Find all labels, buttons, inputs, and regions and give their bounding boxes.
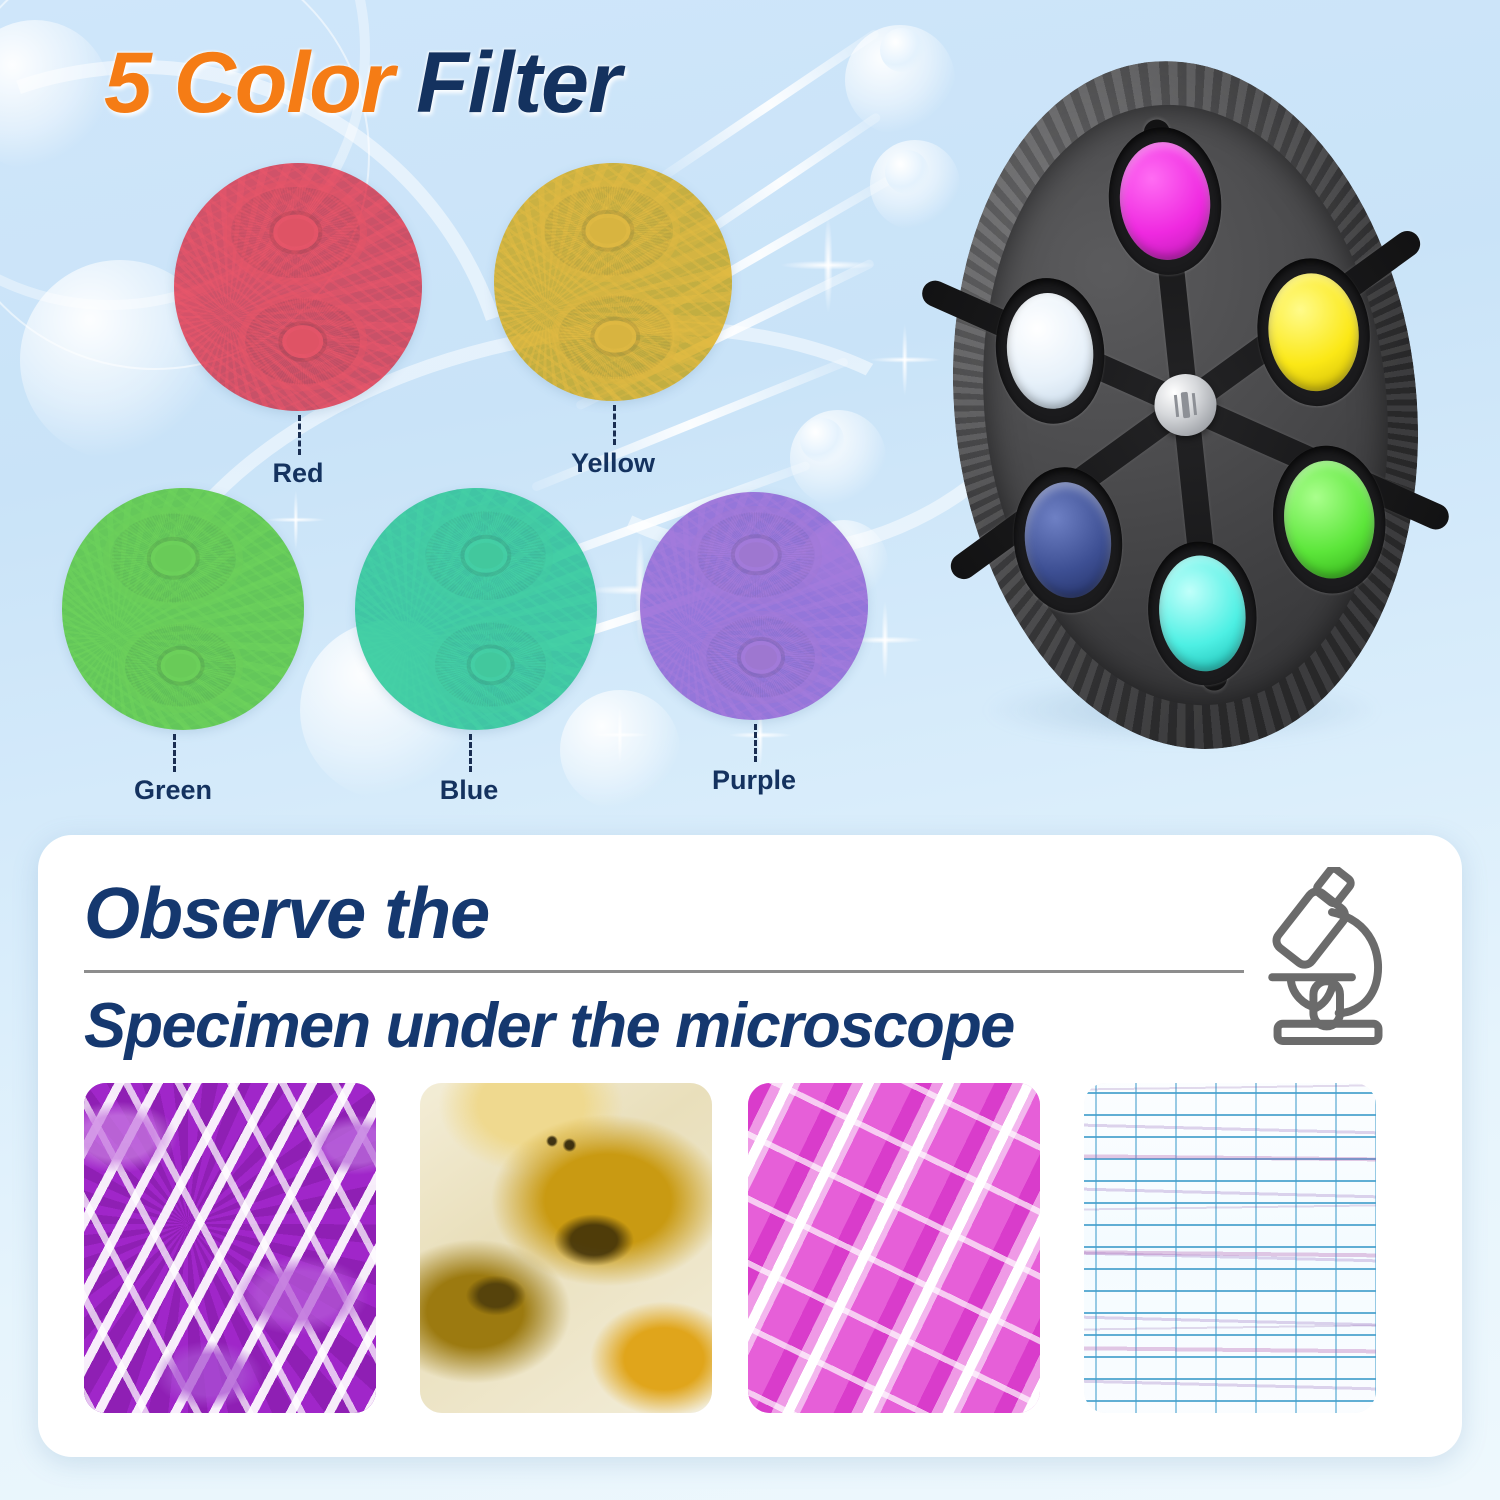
- swatch-yellow: Yellow: [494, 163, 732, 401]
- swatch-disc: [640, 492, 868, 720]
- aperture-cyan[interactable]: [1141, 536, 1263, 691]
- swatch-label: Green: [134, 775, 212, 806]
- page-title: 5 Color Filter: [104, 34, 620, 133]
- swatch-green: Green: [62, 488, 304, 730]
- title-part-filter: Filter: [416, 35, 620, 131]
- swatch-label: Red: [272, 458, 323, 489]
- filter-wheel[interactable]: [930, 55, 1450, 755]
- bg-bubble: [0, 20, 110, 170]
- bg-dna-rung: [660, 28, 881, 181]
- card-heading-line2: Specimen under the microscope: [84, 990, 1014, 1062]
- swatch-blue: Blue: [355, 488, 597, 730]
- bg-dna-node: [885, 150, 929, 194]
- microscope-icon: [1256, 867, 1416, 1045]
- aperture-magenta[interactable]: [1102, 122, 1229, 281]
- aperture-clear[interactable]: [989, 273, 1112, 429]
- swatch-label: Blue: [440, 775, 499, 806]
- card-divider: [84, 970, 1244, 973]
- leader-line: [613, 405, 616, 445]
- bg-sparkle: [780, 217, 876, 313]
- swatch-purple: Purple: [640, 492, 868, 720]
- swatch-label: Purple: [712, 765, 796, 796]
- observe-card: Observe the Specimen under the microscop…: [38, 835, 1462, 1457]
- specimen-photo-blue-plant: [1084, 1083, 1376, 1413]
- swatch-disc: [494, 163, 732, 401]
- specimen-photo-amber-mineral: [420, 1083, 712, 1413]
- swatch-red: Red: [174, 163, 422, 411]
- bg-swoosh: [0, 0, 648, 948]
- specimen-photo-magenta-muscle: [748, 1083, 1040, 1413]
- leader-line: [469, 734, 472, 772]
- swatch-label: Yellow: [571, 448, 655, 479]
- bg-dna-node: [880, 28, 924, 72]
- swatch-disc: [355, 488, 597, 730]
- bg-dna-node: [800, 418, 844, 462]
- specimen-photo-purple-tissue: [84, 1083, 376, 1413]
- leader-line: [298, 415, 301, 455]
- card-heading-line1: Observe the: [84, 873, 489, 955]
- leader-line: [173, 734, 176, 772]
- swatch-disc: [174, 163, 422, 411]
- leader-line: [754, 724, 757, 762]
- swatch-disc: [62, 488, 304, 730]
- title-part-color: 5 Color: [104, 35, 393, 131]
